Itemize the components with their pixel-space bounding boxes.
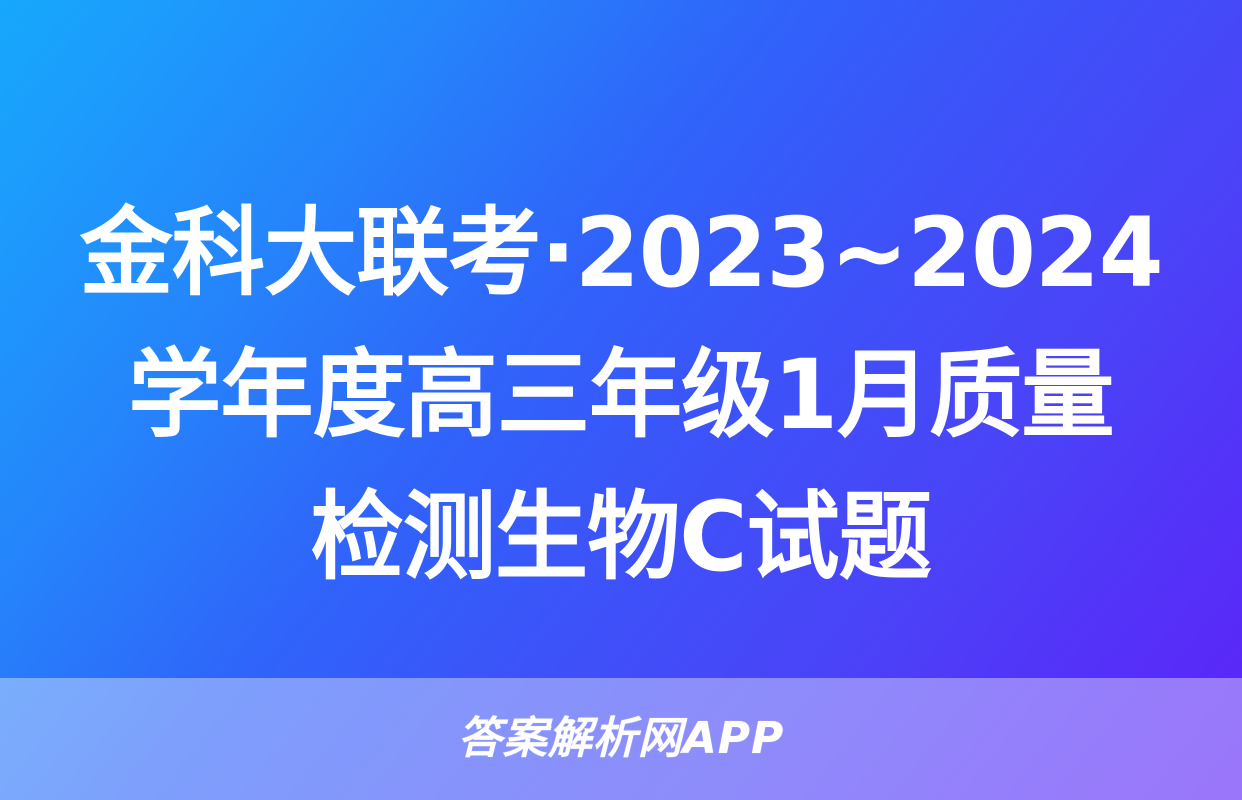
title-line-2: 学年度高三年级1月质量 xyxy=(128,324,1113,466)
banner-title-block: 金科大联考·2023~2024 学年度高三年级1月质量 检测生物C试题 xyxy=(0,182,1242,608)
watermark-band: 答案解析网APP xyxy=(0,678,1242,800)
watermark-label: 答案解析网APP xyxy=(458,717,785,761)
title-line-1: 金科大联考·2023~2024 xyxy=(80,182,1163,324)
cover-banner: 金科大联考·2023~2024 学年度高三年级1月质量 检测生物C试题 答案解析… xyxy=(0,0,1242,800)
title-line-3: 检测生物C试题 xyxy=(311,466,931,608)
